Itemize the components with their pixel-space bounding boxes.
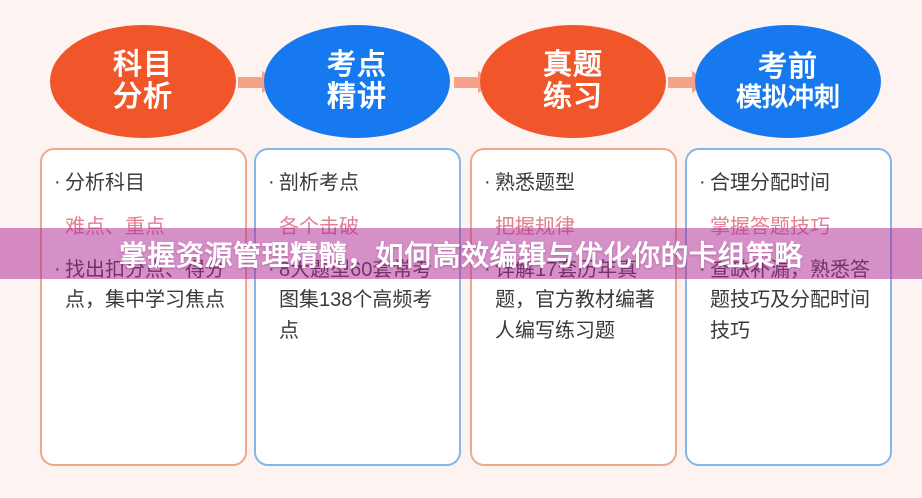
overlay-banner-title: 掌握资源管理精髓，如何高效编辑与优化你的卡组策略 <box>119 234 803 274</box>
bullet-dot-icon: · <box>699 168 710 197</box>
card-3-bullet-1: · 熟悉题型 <box>484 168 663 198</box>
flow-step-1-line1: 科目 <box>113 50 173 81</box>
card-1-bullet-1: · 分析科目 <box>54 168 233 198</box>
flow-step-1: 科目 分析 <box>50 25 236 138</box>
flow-arrow-3-shaft <box>668 77 694 88</box>
flow-step-2-line2: 精讲 <box>327 82 387 113</box>
flow-step-3-line2: 练习 <box>543 82 603 113</box>
detail-card-4: · 合理分配时间 掌握答题技巧 · 查缺补漏，熟悉答题技巧及分配时间技巧 <box>685 148 892 466</box>
flow-step-2-line1: 考点 <box>327 50 387 81</box>
process-flow-row: 科目 分析 考点 精讲 真题 练习 考前 模拟冲刺 <box>0 25 922 138</box>
card-2-bullet-1: · 剖析考点 <box>268 168 447 198</box>
flow-step-3-line1: 真题 <box>543 50 603 81</box>
flow-step-3: 真题 练习 <box>480 25 666 138</box>
card-3-bullet-1-text: 熟悉题型 <box>495 168 663 198</box>
bullet-dot-icon: · <box>268 168 279 197</box>
overlay-banner: 掌握资源管理精髓，如何高效编辑与优化你的卡组策略 <box>0 228 922 279</box>
bullet-dot-icon: · <box>54 168 65 197</box>
detail-card-3: · 熟悉题型 把握规律 · 详解17套历年真题，官方教材编著人编写练习题 <box>470 148 677 466</box>
card-4-bullet-1: · 合理分配时间 <box>699 168 878 198</box>
card-1-bullet-1-text: 分析科目 <box>65 168 233 198</box>
card-2-bullet-1-text: 剖析考点 <box>279 168 447 198</box>
detail-card-2: · 剖析考点 各个击破 · 8大题型60套常考图集138个高频考点 <box>254 148 461 466</box>
card-4-bullet-1-text: 合理分配时间 <box>710 168 878 198</box>
flow-step-2: 考点 精讲 <box>264 25 450 138</box>
poster-root: 科目 分析 考点 精讲 真题 练习 考前 模拟冲刺 <box>0 0 922 498</box>
flow-step-1-line2: 分析 <box>113 82 173 113</box>
flow-arrow-2-shaft <box>454 77 480 88</box>
flow-step-4-line1: 考前 <box>758 52 818 83</box>
flow-arrow-1-shaft <box>238 77 264 88</box>
flow-step-4: 考前 模拟冲刺 <box>695 25 881 138</box>
detail-card-1: · 分析科目 难点、重点 · 找出扣分点、得分点，集中学习焦点 <box>40 148 247 466</box>
flow-step-4-line2: 模拟冲刺 <box>736 83 840 111</box>
bullet-dot-icon: · <box>484 168 495 197</box>
